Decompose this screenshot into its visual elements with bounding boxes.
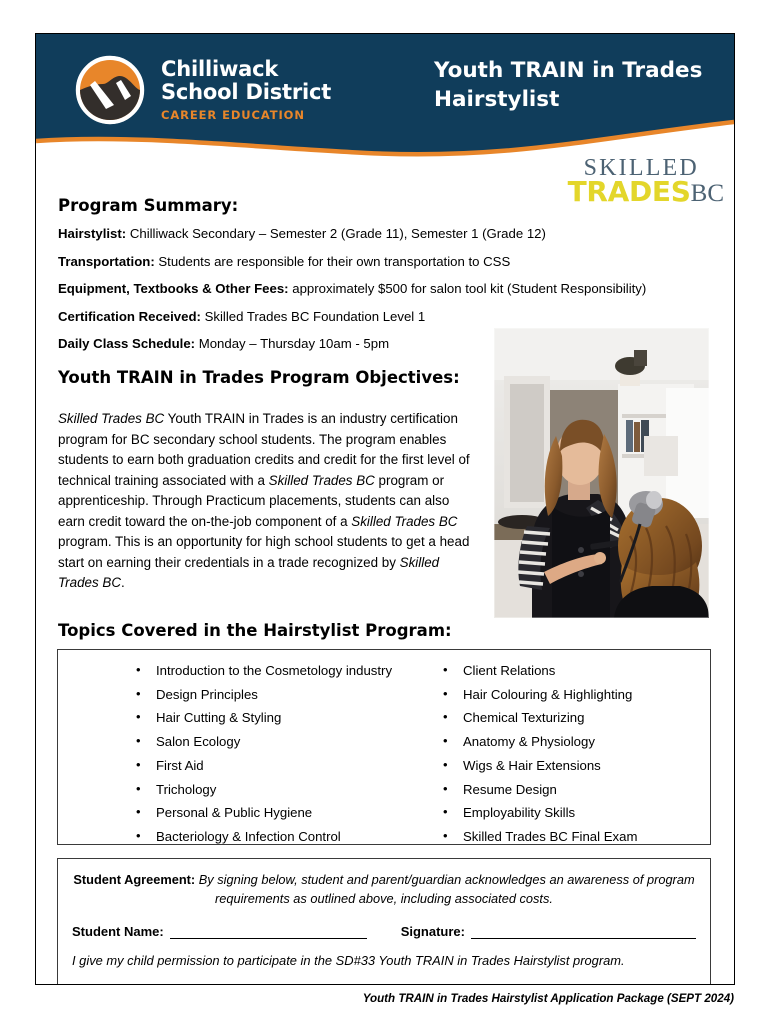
- permission-text: I give my child permission to participat…: [72, 953, 696, 968]
- list-item: Bacteriology & Infection Control: [136, 830, 403, 843]
- summary-label: Transportation:: [58, 254, 155, 269]
- objectives-heading: Youth TRAIN in Trades Program Objectives…: [58, 368, 460, 387]
- list-item: Hair Colouring & Highlighting: [443, 688, 710, 701]
- chilliwack-mountain-icon: [73, 53, 147, 127]
- summary-row: Equipment, Textbooks & Other Fees: appro…: [58, 281, 708, 298]
- logo-line-2: School District: [161, 82, 331, 103]
- summary-label: Hairstylist:: [58, 226, 126, 241]
- summary-value: approximately $500 for salon tool kit (S…: [289, 281, 647, 296]
- document-footer: Youth TRAIN in Trades Hairstylist Applic…: [0, 992, 770, 1005]
- list-item: Hair Cutting & Styling: [136, 711, 403, 724]
- summary-row: Certification Received: Skilled Trades B…: [58, 309, 708, 326]
- logo-line-1: Chilliwack: [161, 59, 331, 80]
- list-item: Wigs & Hair Extensions: [443, 759, 710, 772]
- stbc-trades-text: TRADES: [568, 175, 691, 208]
- page-title: Youth TRAIN in Trades Hairstylist: [434, 57, 724, 114]
- hairstylist-photo: [494, 328, 709, 618]
- list-item: Employability Skills: [443, 806, 710, 819]
- list-item: Chemical Texturizing: [443, 711, 710, 724]
- agreement-text-block: Student Agreement: By signing below, stu…: [72, 871, 696, 908]
- summary-label: Equipment, Textbooks & Other Fees:: [58, 281, 289, 296]
- student-name-input[interactable]: [170, 925, 367, 939]
- document-page: Chilliwack School District CAREER EDUCAT…: [35, 33, 735, 985]
- parent-signature-label: Parent/Guardian Signature:: [72, 983, 241, 985]
- summary-value: Students are responsible for their own t…: [155, 254, 511, 269]
- agreement-label: Student Agreement:: [73, 872, 195, 887]
- hairstylist-photo-image: [494, 328, 709, 618]
- list-item: Anatomy & Physiology: [443, 735, 710, 748]
- topics-box: Introduction to the Cosmetology industry…: [57, 649, 711, 845]
- summary-row: Hairstylist: Chilliwack Secondary – Seme…: [58, 226, 708, 243]
- signature-input[interactable]: [471, 925, 696, 939]
- stbc-bc-text: BC: [691, 180, 724, 207]
- list-item: Personal & Public Hygiene: [136, 806, 403, 819]
- summary-label: Certification Received:: [58, 309, 201, 324]
- list-item: Salon Ecology: [136, 735, 403, 748]
- list-item: Resume Design: [443, 783, 710, 796]
- list-item: Introduction to the Cosmetology industry: [136, 664, 403, 677]
- signature-label: Signature:: [401, 924, 465, 939]
- chilliwack-school-district-logo: Chilliwack School District CAREER EDUCAT…: [73, 53, 331, 127]
- summary-value: Chilliwack Secondary – Semester 2 (Grade…: [126, 226, 546, 241]
- topics-heading: Topics Covered in the Hairstylist Progra…: [58, 621, 452, 640]
- list-item: Client Relations: [443, 664, 710, 677]
- logo-line-3: CAREER EDUCATION: [161, 110, 331, 122]
- summary-label: Daily Class Schedule:: [58, 336, 195, 351]
- list-item: Skilled Trades BC Final Exam: [443, 830, 710, 843]
- parent-signature-row: Parent/Guardian Signature:: [72, 983, 696, 985]
- agreement-text: By signing below, student and parent/gua…: [195, 872, 694, 906]
- student-agreement-box: Student Agreement: By signing below, stu…: [57, 858, 711, 985]
- skilled-trades-bc-logo: SKILLED TRADESBC: [568, 156, 724, 206]
- list-item: Design Principles: [136, 688, 403, 701]
- topics-column-right: Client Relations Hair Colouring & Highli…: [403, 664, 710, 854]
- student-name-label: Student Name:: [72, 924, 164, 939]
- list-item: Trichology: [136, 783, 403, 796]
- topics-column-left: Introduction to the Cosmetology industry…: [58, 664, 403, 854]
- program-summary-heading: Program Summary:: [58, 196, 238, 215]
- parent-signature-input[interactable]: [247, 984, 505, 985]
- student-name-row: Student Name: Signature:: [72, 924, 696, 939]
- summary-value: Monday – Thursday 10am - 5pm: [195, 336, 389, 351]
- summary-row: Transportation: Students are responsible…: [58, 254, 708, 271]
- objectives-paragraph: Skilled Trades BC Youth TRAIN in Trades …: [58, 409, 478, 594]
- summary-value: Skilled Trades BC Foundation Level 1: [201, 309, 425, 324]
- list-item: First Aid: [136, 759, 403, 772]
